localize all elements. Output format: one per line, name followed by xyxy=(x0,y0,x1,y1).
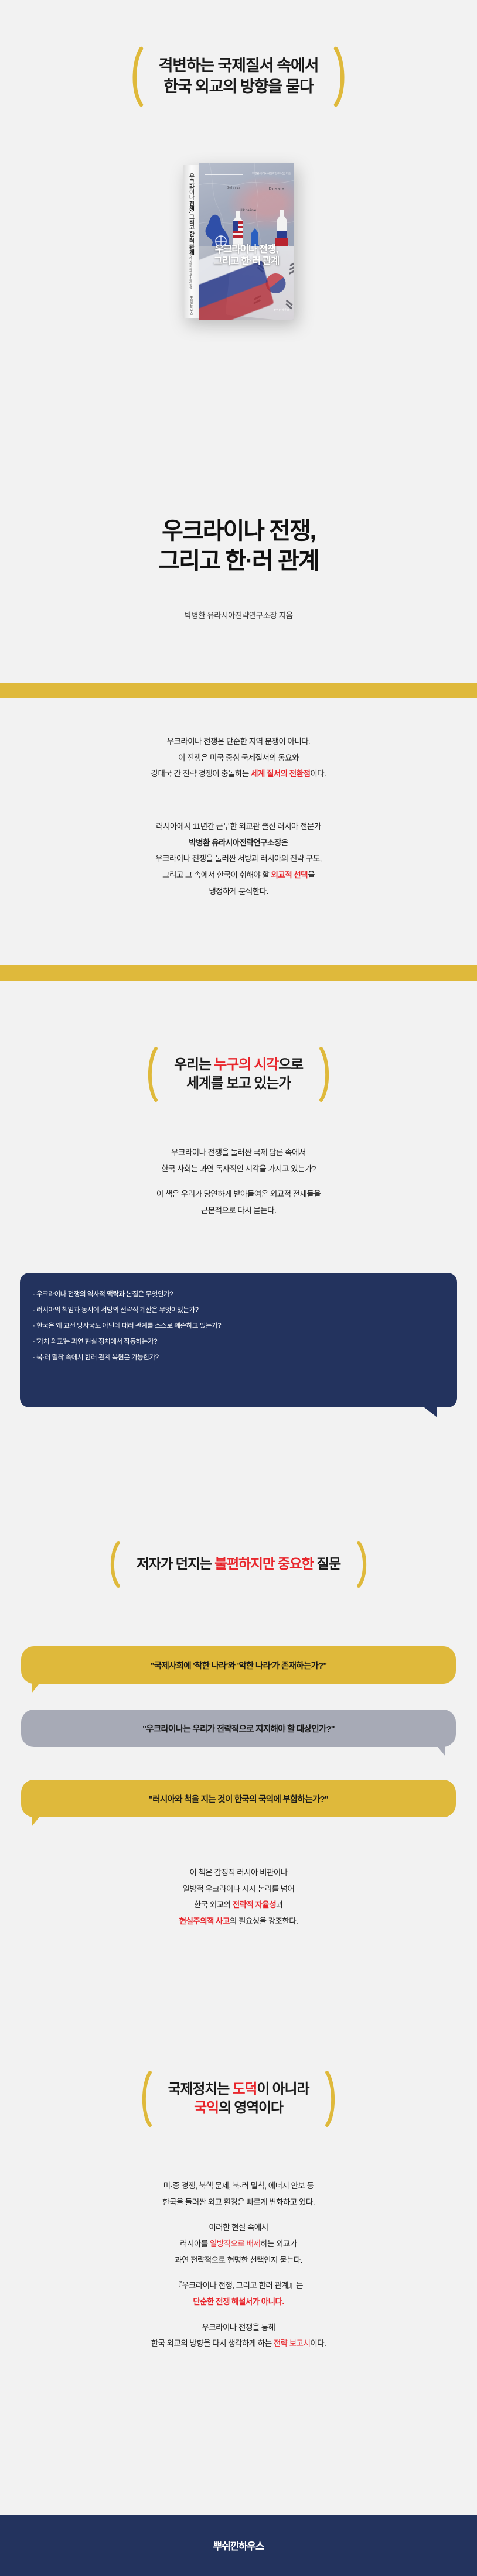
author-line-1: 러시아에서 11년간 근무한 외교관 출신 러시아 전문가 xyxy=(0,818,477,835)
section2-para-line1: 우크라이나 전쟁을 둘러싼 국제 담론 속에서 xyxy=(0,1145,477,1161)
bubble-tail xyxy=(32,1681,41,1693)
bubble-tail xyxy=(416,1406,437,1417)
paragraph-gap xyxy=(0,2210,477,2219)
section4-para-line4: 러시아를 일방적으로 배제하는 외교가 xyxy=(0,2236,477,2252)
page-title-line2: 그리고 한·러 관계 xyxy=(0,546,477,576)
section3-para-line4-emphasis: 현실주의적 사고 xyxy=(179,1917,230,1926)
intro-line-3-emphasis: 세계 질서의 전환점 xyxy=(251,769,310,778)
paragraph-gap xyxy=(0,2268,477,2277)
question-item: · 북·러 밀착 속에서 한러 관계 복원은 가능한가? xyxy=(33,1354,444,1362)
section4-para-line1: 미·중 경쟁, 북핵 문제, 북·러 밀착, 에너지 안보 등 xyxy=(0,2178,477,2194)
bubble-tail xyxy=(436,1745,445,1756)
section4-para-line9: 한국 외교의 방향을 다시 생각하게 하는 전략 보고서이다. xyxy=(0,2335,477,2352)
section4-heading: 국제정치는 도덕이 아니라 국익의 영역이다 xyxy=(0,2067,477,2131)
author-credit: 박병환 유라시아전략연구소장 지음 xyxy=(0,609,477,621)
section3-heading: 저자가 던지는 불편하지만 중요한 질문 xyxy=(0,1540,477,1589)
cover-publisher: 뿌쉬낀하우스 xyxy=(273,308,289,312)
intro-line-3-post: 이다. xyxy=(310,769,326,778)
question-item: · '가치 외교'는 과연 현실 정치에서 작동하는가? xyxy=(33,1338,444,1346)
section2-paragraph: 우크라이나 전쟁을 둘러싼 국제 담론 속에서 한국 사회는 과연 독자적인 시… xyxy=(0,1145,477,1219)
paragraph-gap xyxy=(0,1177,477,1186)
author-paragraph: 러시아에서 11년간 근무한 외교관 출신 러시아 전문가 박병환 유라시아전략… xyxy=(0,818,477,899)
section3-paragraph: 이 책은 감정적 러시아 비판이나 일방적 우크라이나 지지 논리를 넘어 한국… xyxy=(0,1865,477,1930)
author-line-2-bold: 박병환 유라시아전략연구소장 xyxy=(189,838,281,847)
quote-bubble-3: "러시아와 척을 지는 것이 한국의 국익에 부합하는가?" xyxy=(21,1780,456,1817)
section3-heading-text: 저자가 던지는 불편하지만 중요한 질문 xyxy=(137,1555,340,1573)
book-cover-image: 우크라이나 전쟁, 그리고 한·러 관계 박병환(유라시아전략연구소장) 지음 … xyxy=(0,163,477,320)
section4-para-line4-pre: 러시아를 xyxy=(180,2239,210,2248)
question-item: · 우크라이나 전쟁의 역사적 맥락과 본질은 무엇인가? xyxy=(33,1290,444,1299)
hero-eyebrow-heading: 격변하는 국제질서 속에서 한국 외교의 방향을 묻다 xyxy=(0,42,477,111)
bracket-close-icon xyxy=(356,1540,371,1588)
intro-line-1: 우크라이나 전쟁은 단순한 지역 분쟁이 아니다. xyxy=(0,734,477,750)
section2-heading-line1-emphasis: 누구의 시각 xyxy=(214,1057,278,1073)
intro-line-3: 강대국 간 전략 경쟁이 충돌하는 세계 질서의 전환점이다. xyxy=(0,766,477,782)
section4-para-line4-post: 하는 외교가 xyxy=(260,2239,297,2248)
bracket-open-icon xyxy=(106,1540,121,1588)
map-label-belarus: Belarus xyxy=(227,186,241,190)
questions-list: · 우크라이나 전쟁의 역사적 맥락과 본질은 무엇인가? · 러시아의 책임과… xyxy=(33,1290,444,1362)
author-line-4-post: 을 xyxy=(308,871,315,879)
section4-para-line9-pre: 한국 외교의 방향을 다시 생각하게 하는 xyxy=(151,2339,274,2348)
section3-para-line1: 이 책은 감정적 러시아 비판이나 xyxy=(0,1865,477,1881)
section4-para-line3: 이러한 현실 속에서 xyxy=(0,2219,477,2236)
section3-heading-emphasis: 불편하지만 중요한 xyxy=(214,1556,314,1571)
section4-para-line8: 우크라이나 전쟁을 통해 xyxy=(0,2320,477,2336)
cover-map-photo: 박병환(유라시아전략연구소장) 지음 Belarus Russia Ukrain… xyxy=(199,163,294,251)
author-line-4-emphasis: 외교적 선택 xyxy=(271,871,308,879)
cover-rule xyxy=(205,174,243,175)
hero-eyebrow-line1: 격변하는 국제질서 속에서 xyxy=(159,56,319,77)
intro-paragraph: 우크라이나 전쟁은 단순한 지역 분쟁이 아니다. 이 전쟁은 미국 중심 국제… xyxy=(0,734,477,782)
section4-para-line9-emphasis: 전략 보고서 xyxy=(274,2339,311,2348)
bracket-open-icon xyxy=(128,46,144,107)
section4-paragraph: 미·중 경쟁, 북핵 문제, 북·러 밀착, 에너지 안보 등 한국을 둘러싼 … xyxy=(0,2178,477,2352)
publisher-logo: 뿌쉬낀하우스 xyxy=(213,2538,264,2553)
section4-para-line5: 과연 전략적으로 현명한 선택인지 묻는다. xyxy=(0,2252,477,2269)
bracket-close-icon xyxy=(333,46,349,107)
book-spine-author: 박병환(유라시아전략연구소장) 지음 xyxy=(189,245,193,289)
section2-heading-line2: 세계를 보고 있는가 xyxy=(174,1074,303,1093)
section3-para-line4-post: 의 필요성을 강조한다. xyxy=(230,1917,298,1926)
cover-title-line1: 우크라이나 전쟁, xyxy=(199,244,294,255)
book-spine-publisher: 뿌쉬낀하우스 xyxy=(189,296,193,315)
section4-heading-line1-emphasis: 도덕 xyxy=(233,2081,257,2097)
book-front-cover: 박병환(유라시아전략연구소장) 지음 Belarus Russia Ukrain… xyxy=(199,163,294,320)
quote-bubble-1: "국제사회에 '착한 나라'와 '악한 나라'가 존재하는가?" xyxy=(21,1646,456,1684)
cover-title: 우크라이나 전쟁, 그리고 한·러 관계 xyxy=(199,244,294,267)
question-item: · 러시아의 책임과 동시에 서방의 전략적 계산은 무엇이었는가? xyxy=(33,1306,444,1314)
section2-para-line3: 이 책은 우리가 당연하게 받아들여온 외교적 전제들을 xyxy=(0,1186,477,1203)
section2-heading-line1: 우리는 누구의 시각으로 xyxy=(174,1056,303,1074)
author-line-3: 우크라이나 전쟁을 둘러싼 서방과 러시아의 전략 구도, xyxy=(0,851,477,867)
section2-heading-line1-post: 으로 xyxy=(278,1057,303,1073)
section3-para-line3-post: 과 xyxy=(276,1900,283,1909)
questions-bubble: · 우크라이나 전쟁의 역사적 맥락과 본질은 무엇인가? · 러시아의 책임과… xyxy=(20,1273,457,1407)
section3-para-line2: 일방적 우크라이나 지지 논리를 넘어 xyxy=(0,1881,477,1897)
author-line-2: 박병환 유라시아전략연구소장은 xyxy=(0,835,477,851)
section2-heading-line1-pre: 우리는 xyxy=(174,1057,214,1073)
section3-para-line3-pre: 한국 외교의 xyxy=(194,1900,233,1909)
section4-heading-line1-pre: 국제정치는 xyxy=(168,2081,233,2097)
section2-para-line2: 한국 사회는 과연 독자적인 시각을 가지고 있는가? xyxy=(0,1161,477,1177)
section4-heading-line1: 국제정치는 도덕이 아니라 xyxy=(168,2080,309,2099)
promo-page: 격변하는 국제질서 속에서 한국 외교의 방향을 묻다 우크라이나 전쟁, 그리… xyxy=(0,0,477,2576)
bracket-open-icon xyxy=(138,2070,153,2128)
quote-bubble-2-text: "우크라이나는 우리가 전략적으로 지지해야 할 대상인가?" xyxy=(142,1722,335,1735)
bubble-tail xyxy=(32,1815,41,1827)
book-spine: 우크라이나 전쟁, 그리고 한·러 관계 박병환(유라시아전략연구소장) 지음 … xyxy=(183,165,199,318)
map-label-russia: Russia xyxy=(269,187,285,191)
author-line-4: 그리고 그 속에서 한국이 취해야 할 외교적 선택을 xyxy=(0,867,477,883)
divider-band-2 xyxy=(0,965,477,981)
author-line-5: 냉정하게 분석한다. xyxy=(0,883,477,900)
bracket-close-icon xyxy=(318,1046,333,1102)
section4-para-line7: 단순한 전쟁 해설서가 아니다. xyxy=(0,2294,477,2310)
page-title-line1: 우크라이나 전쟁, xyxy=(0,516,477,546)
quote-bubble-1-text: "국제사회에 '착한 나라'와 '악한 나라'가 존재하는가?" xyxy=(151,1659,327,1671)
intro-line-3-pre: 강대국 간 전략 경쟁이 충돌하는 xyxy=(151,769,251,778)
section4-heading-line2-emphasis: 국익 xyxy=(194,2100,219,2116)
author-line-2-post: 은 xyxy=(281,838,288,847)
cover-title-line2: 그리고 한·러 관계 xyxy=(199,256,294,267)
section3-para-line3-emphasis: 전략적 자율성 xyxy=(233,1900,276,1909)
section4-para-line2: 한국을 둘러싼 외교 환경은 빠르게 변화하고 있다. xyxy=(0,2194,477,2211)
cover-rule-bottom xyxy=(207,309,261,309)
hero-eyebrow-line2: 한국 외교의 방향을 묻다 xyxy=(159,77,319,98)
section4-para-line4-emphasis: 일방적으로 배제 xyxy=(210,2239,260,2248)
section3-para-line3: 한국 외교의 전략적 자율성과 xyxy=(0,1897,477,1913)
section3-heading-pre: 저자가 던지는 xyxy=(137,1556,214,1571)
quote-bubble-3-text: "러시아와 척을 지는 것이 한국의 국익에 부합하는가?" xyxy=(149,1793,328,1805)
page-title: 우크라이나 전쟁, 그리고 한·러 관계 xyxy=(0,516,477,576)
quote-bubble-2: "우크라이나는 우리가 전략적으로 지지해야 할 대상인가?" xyxy=(21,1710,456,1747)
section4-heading-line2-post: 의 영역이다 xyxy=(219,2100,283,2116)
cover-author-credit: 박병환(유라시아전략연구소장) 지음 xyxy=(252,172,291,176)
divider-band-1 xyxy=(0,683,477,698)
paragraph-gap xyxy=(0,2310,477,2320)
author-line-4-pre: 그리고 그 속에서 한국이 취해야 할 xyxy=(162,871,271,879)
bracket-open-icon xyxy=(144,1046,159,1102)
section3-para-line4: 현실주의적 사고의 필요성을 강조한다. xyxy=(0,1913,477,1930)
section4-heading-line2: 국익의 영역이다 xyxy=(168,2099,309,2118)
section2-para-line4: 근본적으로 다시 묻는다. xyxy=(0,1203,477,1219)
book-spine-title: 우크라이나 전쟁, 그리고 한·러 관계 xyxy=(187,173,195,255)
question-item: · 한국은 왜 교전 당사국도 아닌데 대러 관계를 스스로 훼손하고 있는가? xyxy=(33,1322,444,1330)
intro-line-2: 이 전쟁은 미국 중심 국제질서의 동요와 xyxy=(0,750,477,766)
bracket-close-icon xyxy=(324,2070,339,2128)
section4-para-line6: 『우크라이나 전쟁, 그리고 한러 관계』는 xyxy=(0,2277,477,2294)
section3-heading-post: 질문 xyxy=(314,1556,340,1571)
section4-heading-line1-post: 이 아니라 xyxy=(257,2081,309,2097)
section4-para-line9-post: 이다. xyxy=(310,2339,326,2348)
section2-heading: 우리는 누구의 시각으로 세계를 보고 있는가 xyxy=(0,1042,477,1107)
footer-bar: 뿌쉬낀하우스 xyxy=(0,2515,477,2576)
